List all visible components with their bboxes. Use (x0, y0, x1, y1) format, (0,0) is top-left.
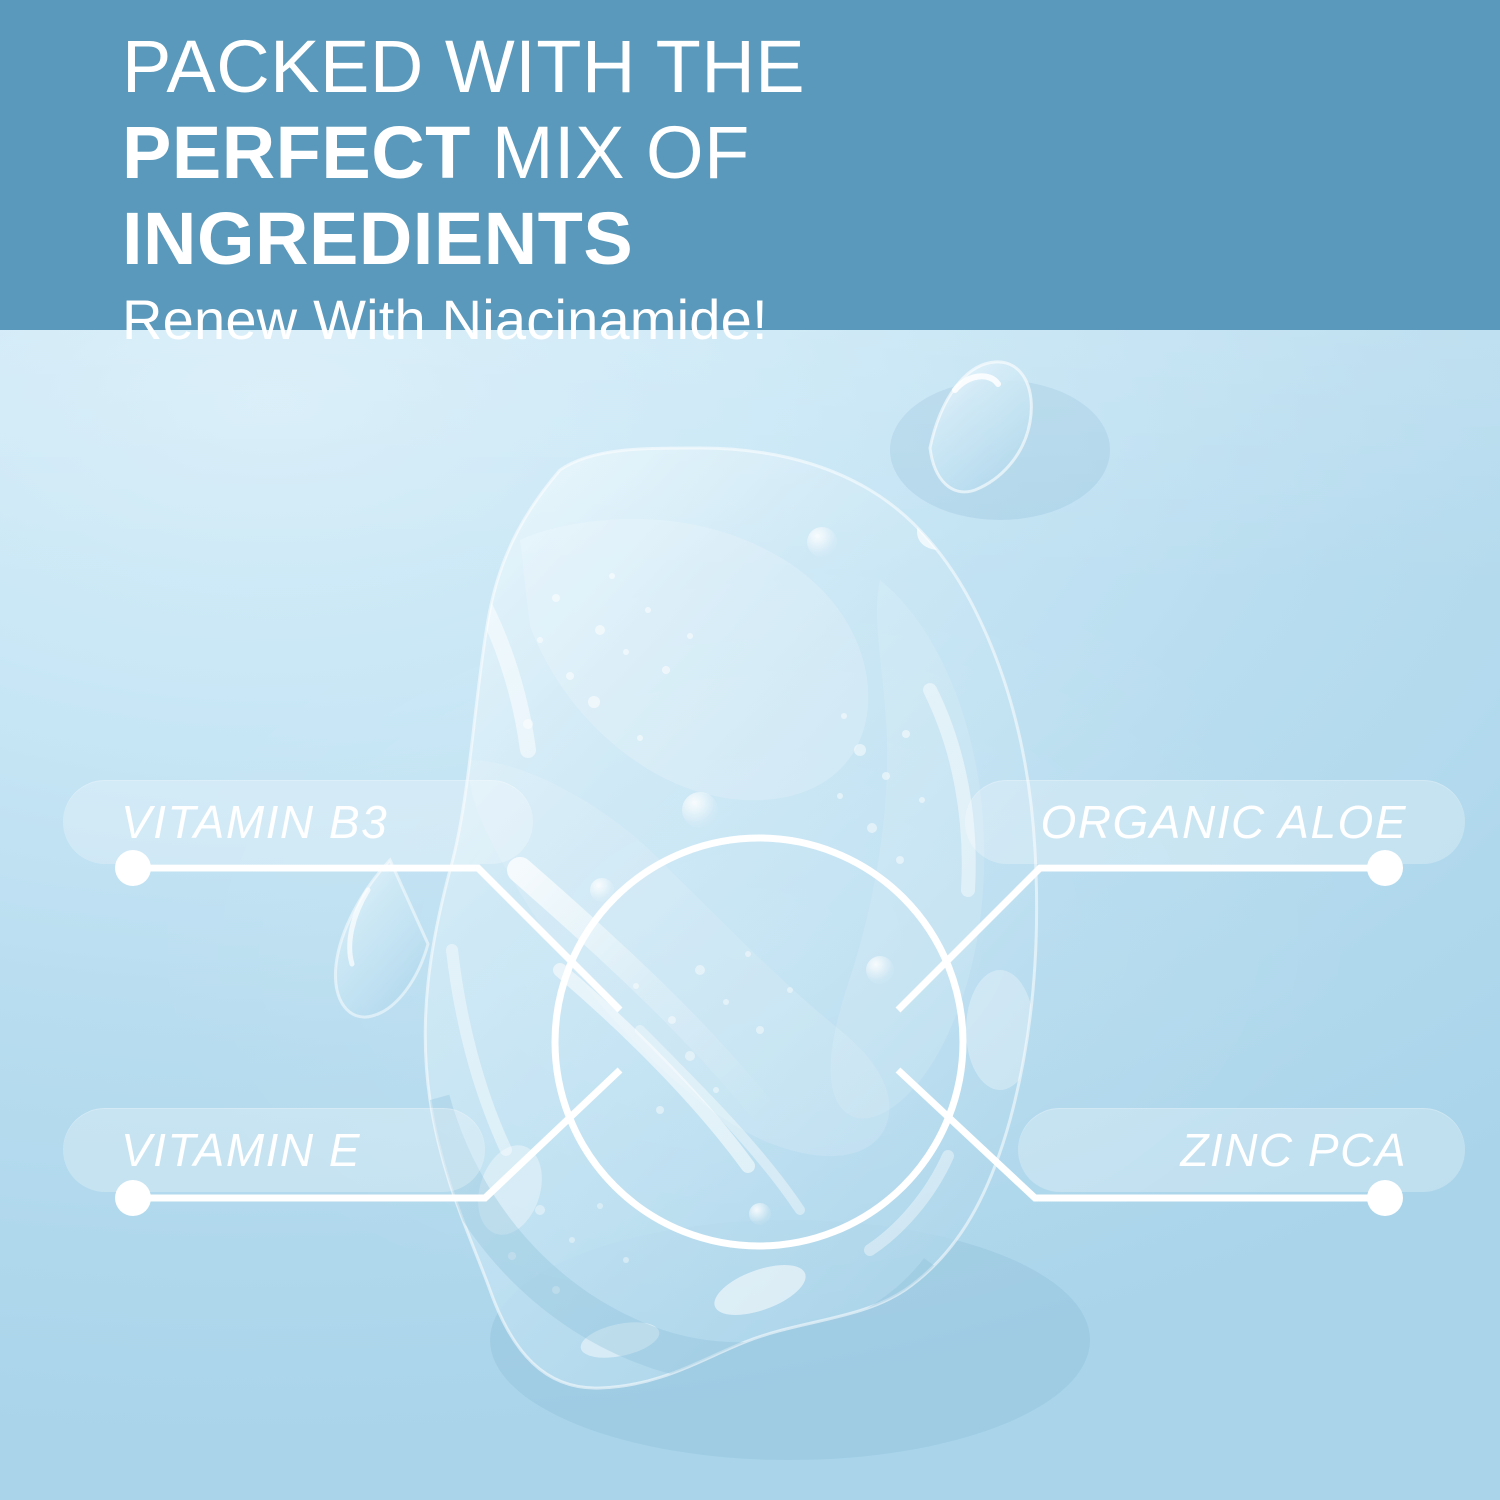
ingredient-label-vitamin-b3[interactable]: VITAMIN B3 (63, 780, 533, 864)
connector-organic-aloe (898, 868, 1385, 1010)
ingredient-label-zinc-pca[interactable]: ZINC PCA (1018, 1108, 1465, 1192)
ingredient-label-text: VITAMIN B3 (63, 795, 388, 849)
ingredient-label-text: ORGANIC ALOE (1041, 795, 1465, 849)
center-focus-circle (555, 838, 963, 1246)
connector-vitamin-b3 (133, 868, 620, 1010)
ingredient-label-text: ZINC PCA (1180, 1123, 1465, 1177)
infographic-canvas: PACKED WITH THE PERFECT MIX OF INGREDIEN… (0, 0, 1500, 1500)
ingredient-label-vitamin-e[interactable]: VITAMIN E (63, 1108, 485, 1192)
ingredient-label-text: VITAMIN E (63, 1123, 361, 1177)
ingredient-label-organic-aloe[interactable]: ORGANIC ALOE (965, 780, 1465, 864)
callout-connector-diagram (0, 0, 1500, 1500)
